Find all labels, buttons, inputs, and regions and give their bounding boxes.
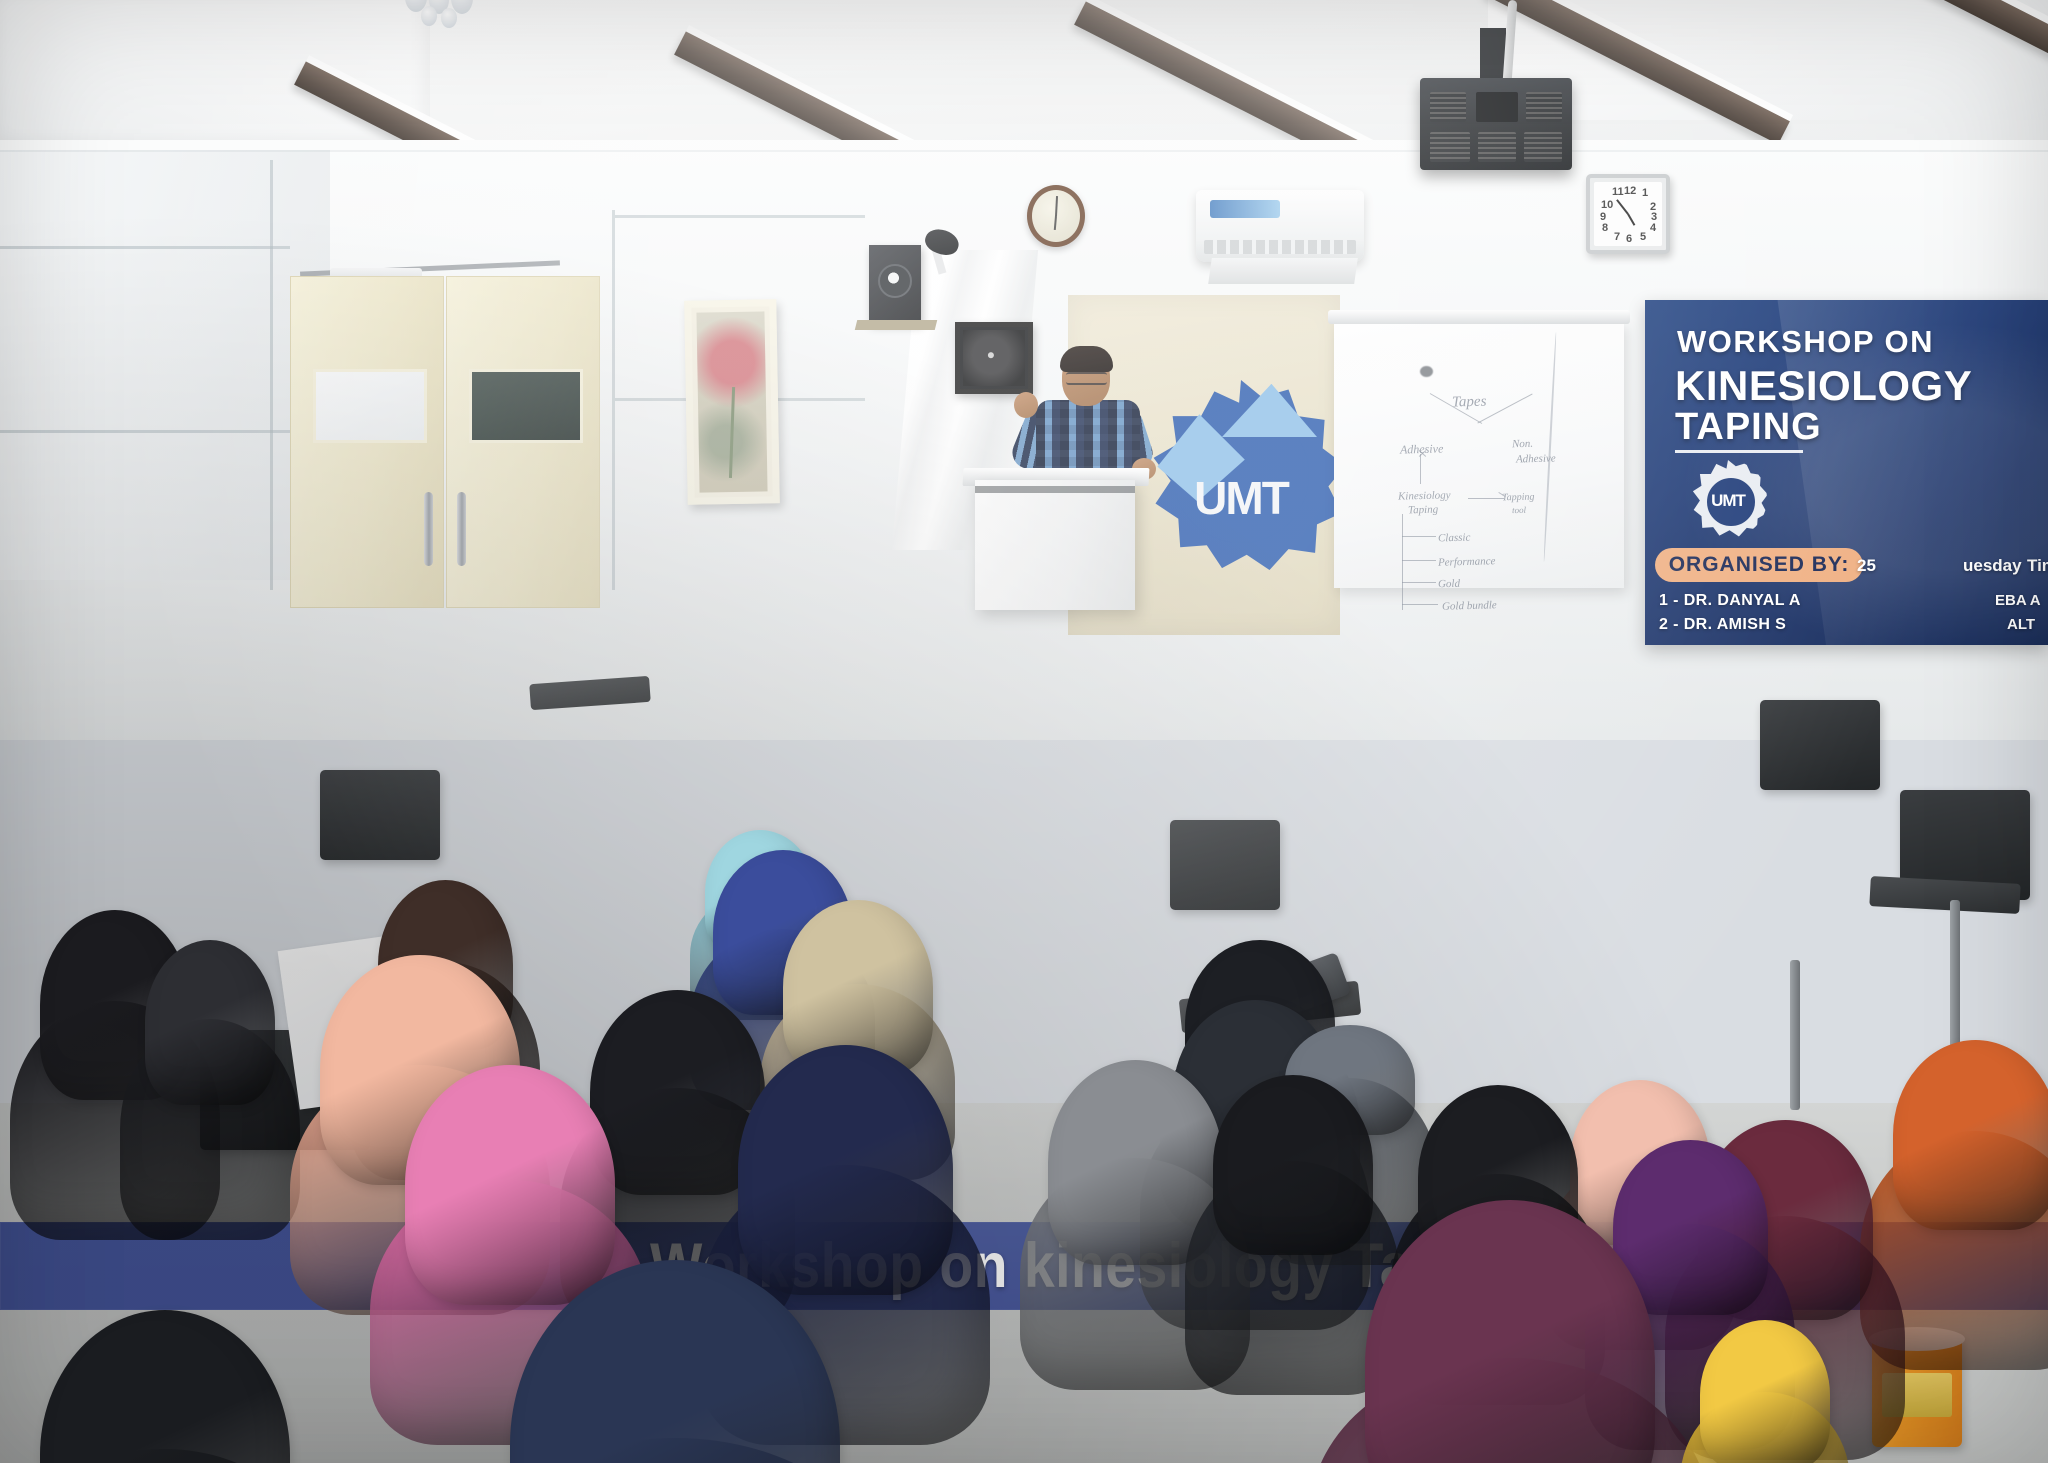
clock-numeral: 6	[1626, 234, 1632, 245]
presenter-hand-left	[1014, 392, 1038, 418]
wall-seam	[615, 215, 865, 218]
framed-flower-picture	[684, 299, 780, 505]
whiteboard-note: Adhesive	[1516, 452, 1556, 465]
clock-numeral: 7	[1614, 232, 1620, 243]
chair	[1760, 700, 1880, 790]
audience-member	[1310, 1200, 1710, 1463]
clock-numeral: 5	[1640, 232, 1646, 243]
clock-numeral: 1	[1642, 188, 1648, 199]
banner-line-2: KINESIOLOGY	[1675, 362, 1972, 410]
chandelier	[395, 0, 485, 28]
audience-member	[120, 940, 300, 1240]
audience-member-head	[1700, 1320, 1830, 1463]
audience-member-head	[1365, 1200, 1655, 1463]
presenter-hair	[1060, 346, 1113, 372]
audience-member-head	[1893, 1040, 2048, 1230]
audience-member-head	[40, 1310, 290, 1463]
audience-member-head	[738, 1045, 953, 1295]
clock-numeral: 8	[1602, 223, 1608, 234]
air-conditioner	[1196, 190, 1364, 262]
whiteboard-note: Taping	[1408, 504, 1438, 517]
umt-seal-text: UMT	[1711, 491, 1745, 511]
banner-line-3: TAPING	[1675, 406, 1822, 449]
clock-numeral: 10	[1601, 200, 1613, 211]
banner-rule	[1675, 450, 1803, 453]
wall-clock-round	[1027, 185, 1085, 247]
whiteboard-note: Kinesiology	[1398, 489, 1451, 502]
podium-stripe	[975, 486, 1135, 493]
clock-numeral: 12	[1624, 186, 1636, 197]
audience-member-head	[510, 1260, 840, 1463]
clock-numeral: 4	[1650, 223, 1656, 234]
wall-speaker	[869, 245, 921, 323]
chair	[320, 770, 440, 860]
whiteboard-note: Adhesive	[1400, 441, 1444, 457]
wall-seam	[0, 430, 290, 433]
audience-member	[460, 1260, 890, 1463]
audience-member	[0, 1310, 330, 1463]
umt-logo-text: UMT	[1194, 471, 1288, 525]
whiteboard-note: tool	[1512, 505, 1526, 515]
chair	[1170, 820, 1280, 910]
whiteboard-note: Tapping	[1502, 492, 1535, 504]
wall-seam	[0, 246, 290, 249]
wall-seam	[0, 150, 2048, 152]
speaker-bracket	[855, 320, 937, 330]
audience-member	[1680, 1320, 1850, 1463]
clock-numeral: 11	[1612, 187, 1624, 198]
chair-leg	[1790, 960, 1800, 1110]
audience	[0, 520, 2048, 1463]
banner-line-1: WORKSHOP ON	[1677, 324, 1934, 360]
whiteboard-note: Non.	[1512, 438, 1533, 451]
ceiling-projector	[1420, 78, 1572, 170]
whiteboard-note: Tapes	[1452, 394, 1487, 412]
wall-clock-square: 12 1 2 3 4 5 6 7 8 9 10 11	[1586, 174, 1670, 254]
ceiling-soffit-left	[0, 0, 430, 150]
audience-member-head	[145, 940, 275, 1105]
left-wall-panel	[0, 150, 330, 580]
presenter-glasses-icon	[1066, 372, 1107, 385]
clock-numeral: 9	[1600, 212, 1606, 223]
air-conditioner-tray	[1208, 258, 1358, 284]
workshop-photo: 12 1 2 3 4 5 6 7 8 9 10 11	[0, 0, 2048, 1463]
